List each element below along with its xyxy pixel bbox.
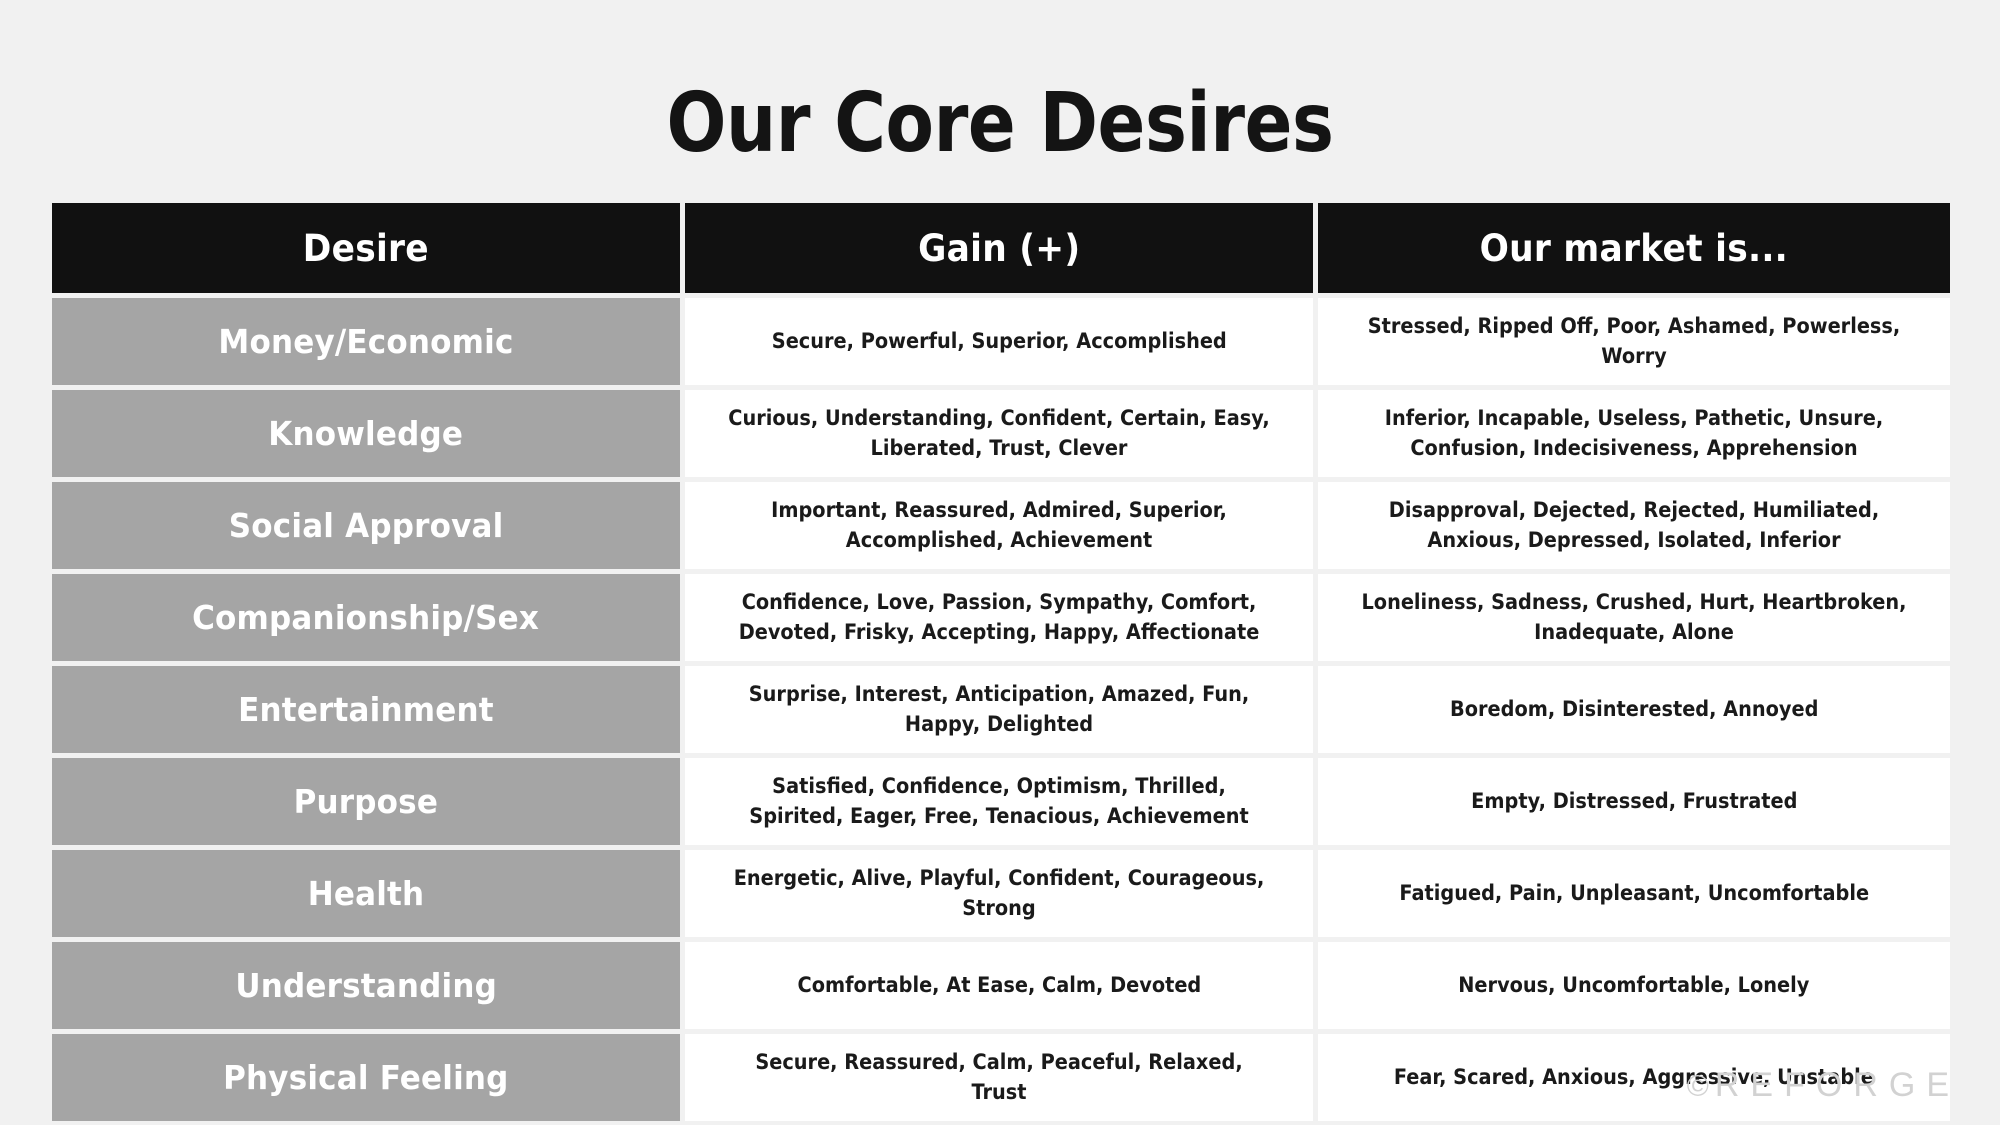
market-text: Stressed, Ripped Off, Poor, Ashamed, Pow… (1360, 312, 1908, 372)
table-row: Understanding Comfortable, At Ease, Calm… (52, 942, 1950, 1029)
market-text: Nervous, Uncomfortable, Lonely (1458, 971, 1809, 1001)
copyright-icon: © (1687, 1070, 1715, 1103)
desire-label: Social Approval (229, 506, 504, 545)
gain-text: Comfortable, At Ease, Calm, Devoted (797, 971, 1201, 1001)
desire-label: Understanding (235, 966, 497, 1005)
desire-cell: Purpose (52, 758, 680, 845)
table-row: Purpose Satisfied, Confidence, Optimism,… (52, 758, 1950, 845)
gain-text: Important, Reassured, Admired, Superior,… (727, 496, 1272, 556)
gain-cell: Secure, Powerful, Superior, Accomplished (685, 298, 1313, 385)
market-text: Inferior, Incapable, Useless, Pathetic, … (1360, 404, 1908, 464)
market-cell: Loneliness, Sadness, Crushed, Hurt, Hear… (1318, 574, 1950, 661)
column-header-desire-label: Desire (303, 227, 429, 270)
table-header-row: Desire Gain (+) Our market is... (52, 203, 1950, 293)
table-row: Entertainment Surprise, Interest, Antici… (52, 666, 1950, 753)
reforge-watermark: ©REFORGE (1687, 1066, 1960, 1105)
column-header-gain-label: Gain (+) (918, 227, 1080, 270)
desire-cell: Social Approval (52, 482, 680, 569)
column-header-market: Our market is... (1318, 203, 1950, 293)
column-header-market-label: Our market is... (1480, 227, 1788, 270)
market-cell: Stressed, Ripped Off, Poor, Ashamed, Pow… (1318, 298, 1950, 385)
column-header-desire: Desire (52, 203, 680, 293)
desire-cell: Money/Economic (52, 298, 680, 385)
core-desires-table: Desire Gain (+) Our market is... Money/E… (52, 203, 1950, 1121)
desire-cell: Knowledge (52, 390, 680, 477)
desire-label: Knowledge (269, 414, 464, 453)
gain-text: Confidence, Love, Passion, Sympathy, Com… (727, 588, 1272, 648)
gain-cell: Important, Reassured, Admired, Superior,… (685, 482, 1313, 569)
market-text: Fatigued, Pain, Unpleasant, Uncomfortabl… (1399, 879, 1869, 909)
desire-label: Purpose (294, 782, 438, 821)
gain-cell: Comfortable, At Ease, Calm, Devoted (685, 942, 1313, 1029)
gain-cell: Confidence, Love, Passion, Sympathy, Com… (685, 574, 1313, 661)
desire-label: Companionship/Sex (193, 598, 540, 637)
market-text: Loneliness, Sadness, Crushed, Hurt, Hear… (1360, 588, 1908, 648)
gain-text: Secure, Reassured, Calm, Peaceful, Relax… (727, 1048, 1272, 1108)
table-row: Health Energetic, Alive, Playful, Confid… (52, 850, 1950, 937)
table-row: Social Approval Important, Reassured, Ad… (52, 482, 1950, 569)
desire-label: Physical Feeling (223, 1058, 508, 1097)
gain-text: Curious, Understanding, Confident, Certa… (727, 404, 1272, 464)
slide-canvas: Our Core Desires Desire Gain (+) Our mar… (0, 0, 2000, 1125)
desire-cell: Physical Feeling (52, 1034, 680, 1121)
page-title: Our Core Desires (140, 81, 1860, 167)
desire-label: Health (308, 874, 425, 913)
desire-cell: Companionship/Sex (52, 574, 680, 661)
desire-cell: Health (52, 850, 680, 937)
gain-cell: Surprise, Interest, Anticipation, Amazed… (685, 666, 1313, 753)
desire-cell: Entertainment (52, 666, 680, 753)
column-header-gain: Gain (+) (685, 203, 1313, 293)
market-text: Disapproval, Dejected, Rejected, Humilia… (1360, 496, 1908, 556)
market-cell: Inferior, Incapable, Useless, Pathetic, … (1318, 390, 1950, 477)
gain-cell: Secure, Reassured, Calm, Peaceful, Relax… (685, 1034, 1313, 1121)
market-cell: Boredom, Disinterested, Annoyed (1318, 666, 1950, 753)
gain-text: Energetic, Alive, Playful, Confident, Co… (727, 864, 1272, 924)
gain-text: Satisfied, Confidence, Optimism, Thrille… (727, 772, 1272, 832)
gain-text: Surprise, Interest, Anticipation, Amazed… (727, 680, 1272, 740)
market-text: Empty, Distressed, Frustrated (1471, 787, 1797, 817)
gain-text: Secure, Powerful, Superior, Accomplished (772, 327, 1227, 357)
market-cell: Nervous, Uncomfortable, Lonely (1318, 942, 1950, 1029)
market-cell: Empty, Distressed, Frustrated (1318, 758, 1950, 845)
desire-label: Money/Economic (218, 322, 513, 361)
gain-cell: Energetic, Alive, Playful, Confident, Co… (685, 850, 1313, 937)
table-row: Physical Feeling Secure, Reassured, Calm… (52, 1034, 1950, 1121)
watermark-label: REFORGE (1715, 1066, 1960, 1104)
table-row: Money/Economic Secure, Powerful, Superio… (52, 298, 1950, 385)
desire-cell: Understanding (52, 942, 680, 1029)
market-text: Boredom, Disinterested, Annoyed (1450, 695, 1818, 725)
table-row: Knowledge Curious, Understanding, Confid… (52, 390, 1950, 477)
market-cell: Disapproval, Dejected, Rejected, Humilia… (1318, 482, 1950, 569)
desire-label: Entertainment (238, 690, 494, 729)
gain-cell: Satisfied, Confidence, Optimism, Thrille… (685, 758, 1313, 845)
gain-cell: Curious, Understanding, Confident, Certa… (685, 390, 1313, 477)
market-cell: Fatigued, Pain, Unpleasant, Uncomfortabl… (1318, 850, 1950, 937)
table-row: Companionship/Sex Confidence, Love, Pass… (52, 574, 1950, 661)
